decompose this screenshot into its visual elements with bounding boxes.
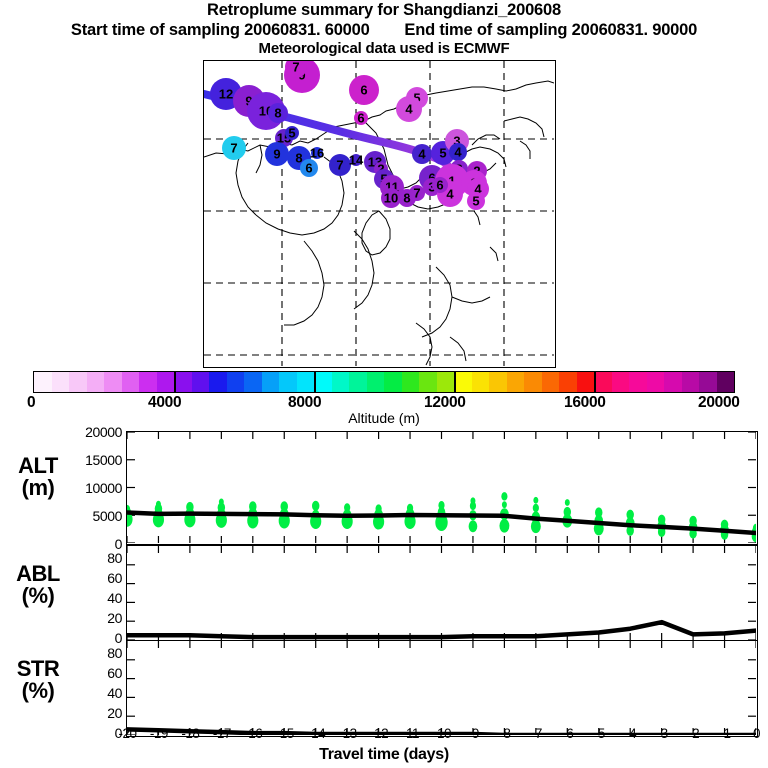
x-tick-label-0: -20	[111, 726, 145, 741]
str-ytick-80: 80	[107, 645, 122, 661]
plume-marker: 9	[265, 142, 289, 166]
colorbar-segment-7	[157, 372, 175, 392]
colorbar-segment-19	[367, 372, 385, 392]
alt-chart-canvas	[127, 432, 756, 543]
colorbar-segment-9	[192, 372, 210, 392]
str-chart-canvas	[127, 641, 756, 735]
colorbar-segment-5	[122, 372, 140, 392]
plume-marker: 7	[409, 185, 425, 201]
colorbar-segment-38	[699, 372, 717, 392]
x-tick-label-11: -9	[456, 726, 490, 741]
plume-label: 4	[418, 146, 426, 161]
plume-label: 5	[472, 193, 479, 208]
plume-label: 7	[336, 157, 343, 172]
plume-label: 12	[219, 86, 233, 101]
alt-scatter-point	[533, 504, 539, 513]
colorbar-segment-16	[314, 372, 332, 392]
str-ytick-40: 40	[107, 685, 122, 701]
figure-title-block: Retroplume summary for Shangdianzi_20060…	[0, 0, 768, 58]
colorbar-segment-1	[52, 372, 70, 392]
plume-marker: 4	[412, 144, 432, 164]
colorbar-divider-1	[174, 371, 176, 393]
colorbar-segment-39	[717, 372, 735, 392]
colorbar-segment-18	[349, 372, 367, 392]
colorbar-segment-31	[577, 372, 595, 392]
plume-marker: 7	[329, 154, 351, 176]
colorbar-segment-26	[489, 372, 507, 392]
colorbar-segment-35	[647, 372, 665, 392]
x-tick-label-17: -3	[645, 726, 679, 741]
colorbar-segment-4	[104, 372, 122, 392]
alt-scatter-point	[469, 520, 478, 532]
alt-axis-label-line2: (m)	[8, 477, 68, 499]
abl-ytick-60: 60	[107, 570, 122, 586]
plume-label: 6	[360, 82, 367, 97]
sampling-time-line: Start time of sampling 20060831. 60000 E…	[0, 20, 768, 40]
alt-axis-label-line1: ALT	[8, 455, 68, 477]
x-tick-label-14: -6	[551, 726, 585, 741]
colorbar-segment-3	[87, 372, 105, 392]
retroplume-map[interactable]: 1299710866547155986167141325111087634534…	[203, 60, 556, 368]
plume-label: 6	[357, 110, 364, 125]
x-tick-label-18: -2	[677, 726, 711, 741]
colorbar-segment-8	[174, 372, 192, 392]
plume-label: 5	[439, 145, 446, 160]
colorbar-segment-21	[402, 372, 420, 392]
str-axis-label-line1: STR	[8, 658, 68, 680]
plume-label: 4	[454, 144, 462, 159]
str-axis-label-line2: (%)	[8, 680, 68, 702]
colorbar-segment-6	[139, 372, 157, 392]
x-axis-title: Travel time (days)	[0, 746, 768, 764]
alt-chart[interactable]	[126, 431, 758, 545]
alt-scatter-point	[565, 499, 570, 506]
x-tick-label-20: 0	[740, 726, 768, 741]
x-tick-label-4: -16	[236, 726, 270, 741]
abl-ytick-80: 80	[107, 550, 122, 566]
x-tick-label-13: -7	[519, 726, 553, 741]
colorbar-segment-27	[507, 372, 525, 392]
plume-label: 8	[274, 105, 281, 120]
plume-label: 4	[446, 186, 454, 201]
colorbar-divider-4	[594, 371, 596, 393]
x-tick-label-19: -1	[708, 726, 742, 741]
plume-label: 14	[349, 152, 364, 167]
alt-ytick-10000: 10000	[85, 480, 122, 496]
alt-axis-label: ALT (m)	[8, 455, 68, 499]
colorbar-segment-17	[332, 372, 350, 392]
page-title: Retroplume summary for Shangdianzi_20060…	[0, 0, 768, 20]
x-tick-label-12: -8	[488, 726, 522, 741]
abl-ytick-40: 40	[107, 590, 122, 606]
x-tick-label-5: -15	[268, 726, 302, 741]
colorbar-segment-0	[34, 372, 52, 392]
colorbar-divider-2	[314, 371, 316, 393]
alt-ytick-5000: 5000	[92, 508, 122, 524]
plume-marker: 4	[396, 96, 422, 122]
plume-marker: 4	[449, 143, 467, 161]
plume-marker: 7	[222, 136, 246, 160]
plume-label: 7	[413, 185, 420, 200]
colorbar-segment-34	[629, 372, 647, 392]
colorbar-segment-20	[384, 372, 402, 392]
colorbar-segment-25	[472, 372, 490, 392]
abl-chart[interactable]	[126, 545, 758, 642]
colorbar-segment-23	[437, 372, 455, 392]
plume-label: 4	[405, 101, 413, 116]
start-time-label: Start time of sampling 20060831. 60000	[71, 21, 370, 39]
plume-label: 10	[384, 190, 398, 205]
altitude-colorbar[interactable]	[33, 371, 735, 393]
colorbar-segment-33	[612, 372, 630, 392]
colorbar-segment-24	[454, 372, 472, 392]
str-ytick-20: 20	[107, 705, 122, 721]
alt-scatter-point	[501, 492, 507, 501]
alt-scatter-point	[533, 497, 538, 504]
colorbar-divider-3	[454, 371, 456, 393]
colorbar-segment-12	[244, 372, 262, 392]
plume-marker: 8	[268, 103, 288, 123]
end-time-label: End time of sampling 20060831. 90000	[404, 21, 697, 39]
abl-axis-label: ABL (%)	[8, 563, 68, 607]
colorbar-segment-15	[297, 372, 315, 392]
colorbar-segment-28	[524, 372, 542, 392]
plume-label: 7	[292, 61, 299, 74]
str-axis-label: STR (%)	[8, 658, 68, 702]
str-ytick-60: 60	[107, 665, 122, 681]
plume-label: 7	[230, 140, 237, 155]
x-tick-label-7: -13	[331, 726, 365, 741]
alt-scatter-point	[470, 502, 476, 511]
x-tick-label-15: -5	[582, 726, 616, 741]
x-tick-label-16: -4	[614, 726, 648, 741]
map-canvas: 1299710866547155986167141325111087634534…	[204, 61, 554, 366]
plume-marker: 6	[300, 159, 318, 177]
x-tick-label-2: -18	[173, 726, 207, 741]
plume-label: 6	[436, 177, 443, 192]
colorbar-segment-14	[279, 372, 297, 392]
alt-ytick-15000: 15000	[85, 452, 122, 468]
x-tick-label-6: -14	[299, 726, 333, 741]
x-tick-label-9: -11	[394, 726, 428, 741]
plume-marker: 5	[467, 192, 485, 210]
plume-label: 9	[273, 146, 280, 161]
x-tick-label-1: -19	[142, 726, 176, 741]
plume-marker: 14	[349, 152, 364, 167]
plume-label: 16	[310, 145, 324, 160]
alt-scatter-point	[312, 501, 319, 511]
colorbar-segment-22	[419, 372, 437, 392]
alt-scatter-point	[502, 501, 507, 508]
abl-ytick-0: 0	[115, 630, 122, 646]
colorbar-segment-29	[542, 372, 560, 392]
plume-label: 6	[305, 160, 312, 175]
met-data-label: Meteorological data used is ECMWF	[0, 40, 768, 58]
abl-chart-canvas	[127, 546, 756, 640]
x-tick-label-3: -17	[205, 726, 239, 741]
alt-scatter-point	[499, 519, 509, 533]
str-chart[interactable]	[126, 640, 758, 737]
colorbar-segment-36	[664, 372, 682, 392]
x-tick-label-8: -12	[362, 726, 396, 741]
plume-marker: 16	[310, 145, 324, 160]
plume-marker: 6	[349, 75, 379, 105]
colorbar-segment-2	[69, 372, 87, 392]
colorbar-segment-30	[559, 372, 577, 392]
alt-ytick-20000: 20000	[85, 424, 122, 440]
colorbar-segment-11	[227, 372, 245, 392]
plume-marker: 6	[432, 177, 448, 193]
abl-axis-label-line2: (%)	[8, 585, 68, 607]
alt-scatter-point	[531, 520, 541, 534]
plume-label: 5	[288, 125, 295, 140]
abl-axis-label-line1: ABL	[8, 563, 68, 585]
colorbar-segment-10	[209, 372, 227, 392]
abl-ytick-20: 20	[107, 610, 122, 626]
colorbar-segment-32	[594, 372, 612, 392]
x-tick-label-10: -10	[425, 726, 459, 741]
colorbar-segment-13	[262, 372, 280, 392]
colorbar-segment-37	[682, 372, 700, 392]
